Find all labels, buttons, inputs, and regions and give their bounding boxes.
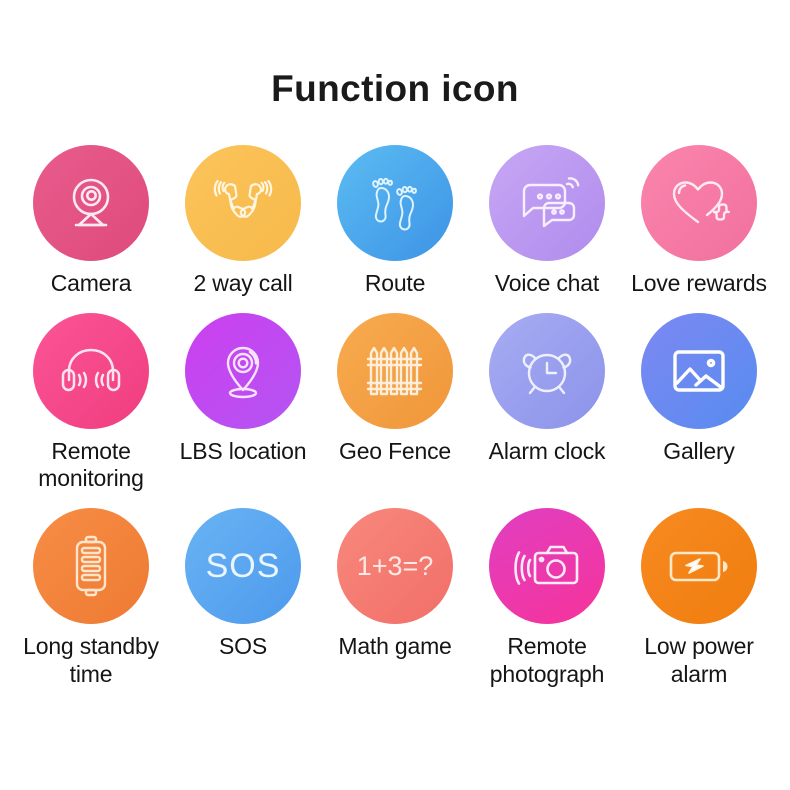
icon-label: Long standby time [22,633,160,687]
icon-cell-sos[interactable]: SOS SOS [174,508,312,660]
icon-label: 2 way call [194,270,293,297]
math-equation-icon: 1+3=? [357,551,434,582]
icon-cell-long-standby-time[interactable]: Long standby time [22,508,160,687]
remote-photograph-circle[interactable] [489,508,605,624]
icon-label: Love rewards [631,270,767,297]
icon-label: Remote photograph [478,633,616,687]
icon-label: Low power alarm [630,633,768,687]
icon-cell-remote-monitoring[interactable]: Remote monitoring [22,313,160,492]
icon-label: Voice chat [495,270,599,297]
icon-cell-route[interactable]: Route [326,145,464,297]
page-title: Function icon [0,0,790,107]
icon-cell-lbs-location[interactable]: LBS location [174,313,312,465]
icon-grid: Camera [0,145,790,688]
geo-fence-circle[interactable] [337,313,453,429]
speech-bubbles-icon [514,174,580,232]
alarm-clock-circle[interactable] [489,313,605,429]
battery-bolt-icon [666,544,732,588]
icon-label: Math game [338,633,451,660]
icon-row-1: Camera [22,145,768,297]
footprints-icon [363,172,427,234]
icon-row-3: Long standby time SOS SOS 1+3=? Math gam… [22,508,768,687]
heart-plus-icon [667,174,731,232]
icon-cell-geo-fence[interactable]: Geo Fence [326,313,464,465]
sos-text-icon: SOS [206,547,281,586]
icon-cell-love-rewards[interactable]: Love rewards [630,145,768,297]
icon-label: Alarm clock [489,438,606,465]
icon-label: LBS location [180,438,307,465]
icon-label: Geo Fence [339,438,451,465]
alarm-clock-icon [517,341,577,401]
map-pin-icon [213,340,273,402]
icon-cell-camera[interactable]: Camera [22,145,160,297]
camera-circle[interactable] [33,145,149,261]
long-standby-time-circle[interactable] [33,508,149,624]
icon-label: Remote monitoring [22,438,160,492]
webcam-icon [60,172,122,234]
icon-cell-remote-photograph[interactable]: Remote photograph [478,508,616,687]
icon-label: Camera [51,270,132,297]
image-icon [670,345,728,397]
battery-vertical-icon [68,534,114,598]
icon-cell-2-way-call[interactable]: 2 way call [174,145,312,297]
icon-cell-alarm-clock[interactable]: Alarm clock [478,313,616,465]
two-way-call-circle[interactable] [185,145,301,261]
icon-label: SOS [219,633,267,660]
icon-cell-low-power-alarm[interactable]: Low power alarm [630,508,768,687]
math-game-circle[interactable]: 1+3=? [337,508,453,624]
icon-cell-math-game[interactable]: 1+3=? Math game [326,508,464,660]
icon-row-2: Remote monitoring LBS location [22,313,768,492]
voice-chat-circle[interactable] [489,145,605,261]
route-circle[interactable] [337,145,453,261]
sos-circle[interactable]: SOS [185,508,301,624]
love-rewards-circle[interactable] [641,145,757,261]
icon-cell-voice-chat[interactable]: Voice chat [478,145,616,297]
icon-label: Gallery [663,438,734,465]
icon-cell-gallery[interactable]: Gallery [630,313,768,465]
two-phones-icon [211,174,275,232]
gallery-circle[interactable] [641,313,757,429]
remote-monitoring-circle[interactable] [33,313,149,429]
lbs-location-circle[interactable] [185,313,301,429]
camera-remote-icon [514,539,580,593]
low-power-alarm-circle[interactable] [641,508,757,624]
fence-icon [364,343,426,399]
function-icon-poster: Function icon Camera [0,0,790,790]
icon-label: Route [365,270,425,297]
headphones-icon [59,344,123,398]
